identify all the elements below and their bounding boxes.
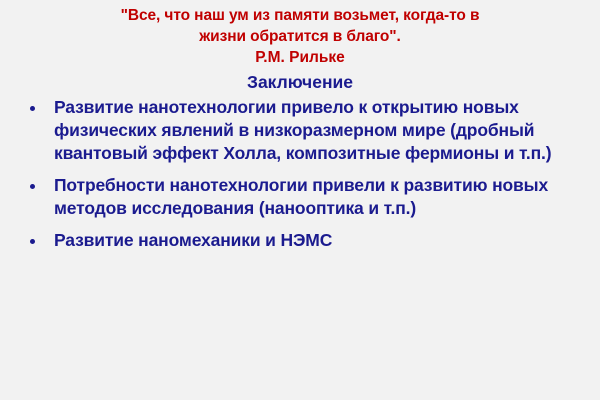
- quote-attribution: Р.М. Рильке: [58, 48, 542, 69]
- list-item-text: Потребности нанотехнологии привели к раз…: [54, 174, 592, 220]
- bullet-dot-icon: [30, 239, 35, 244]
- slide-bottom-space: [0, 252, 600, 400]
- bullet-dot-icon: [30, 184, 35, 189]
- slide-title: Заключение: [0, 72, 600, 94]
- presentation-slide: "Все, что наш ум из памяти возьмет, когд…: [0, 0, 600, 400]
- quote-line-1: "Все, что наш ум из памяти возьмет, когд…: [58, 6, 542, 27]
- list-item-text: Развитие наномеханики и НЭМС: [54, 229, 592, 252]
- list-item: Развитие наномеханики и НЭМС: [28, 229, 592, 252]
- epigraph-quote: "Все, что наш ум из памяти возьмет, когд…: [0, 0, 600, 69]
- list-item: Развитие нанотехнологии привело к открыт…: [28, 96, 592, 165]
- list-item: Потребности нанотехнологии привели к раз…: [28, 174, 592, 220]
- list-item-text: Развитие нанотехнологии привело к открыт…: [54, 96, 592, 165]
- bullet-dot-icon: [30, 106, 35, 111]
- conclusion-bullet-list: Развитие нанотехнологии привело к открыт…: [0, 96, 600, 253]
- quote-line-2: жизни обратится в благо".: [58, 27, 542, 48]
